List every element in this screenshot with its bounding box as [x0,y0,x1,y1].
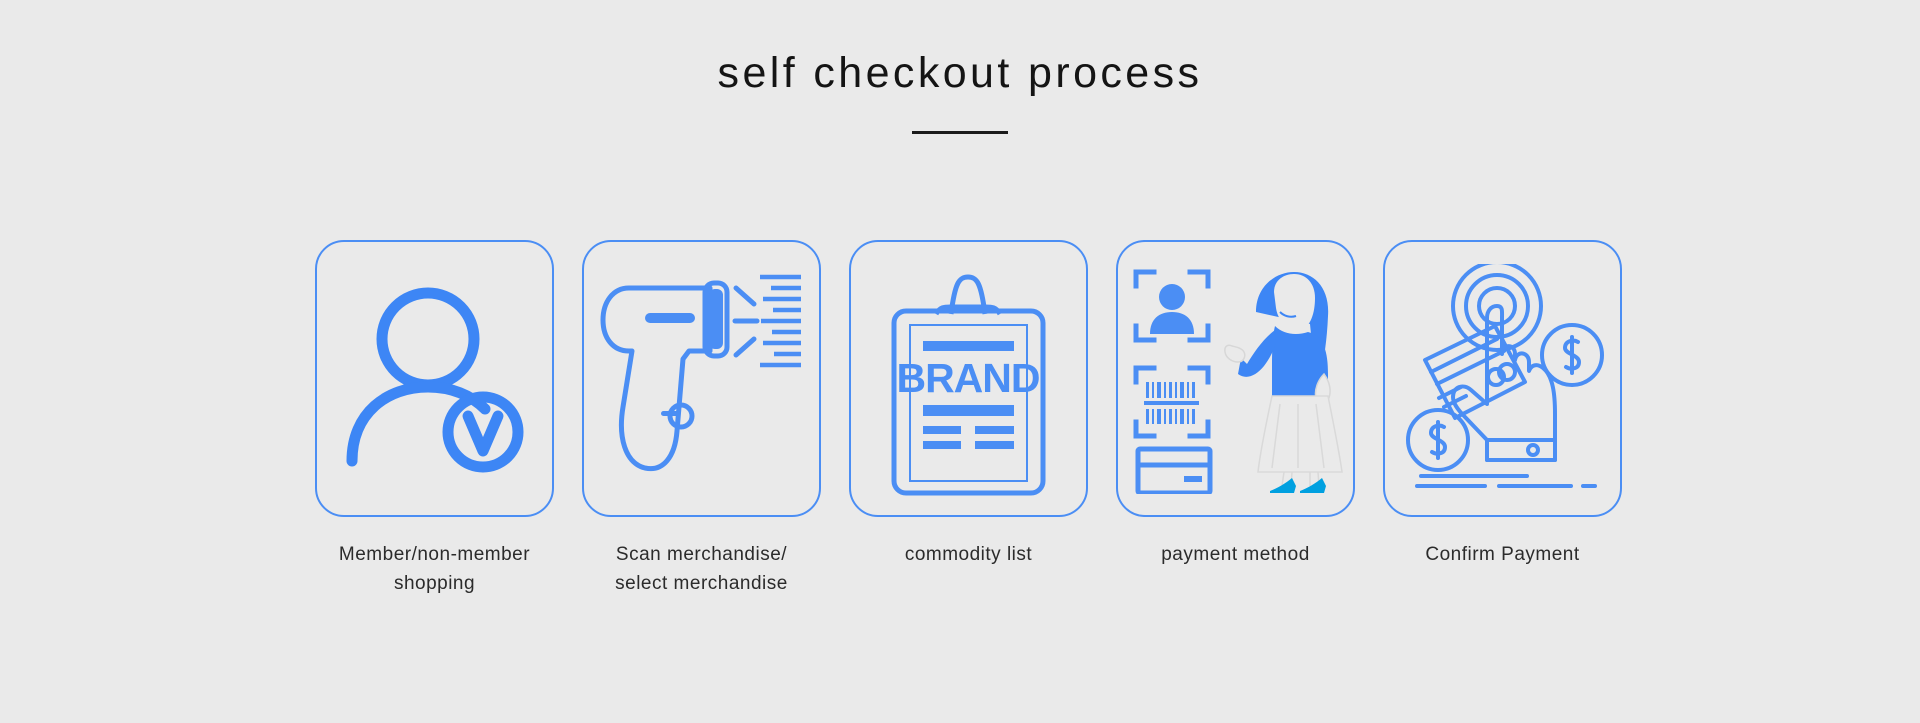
hand-tap-card-coins-icon [1395,264,1610,494]
payment-methods-shopper-icon [1128,264,1343,494]
steps-row: Member/non-member shopping [313,240,1624,599]
step-2-card[interactable] [582,240,821,517]
step-2-caption: Scan merchandise/ select merchandise [572,541,832,599]
step-4-card[interactable] [1116,240,1355,517]
title-divider [912,131,1008,134]
step-3-caption: commodity list [839,541,1099,570]
step-2-scan-merchandise[interactable]: Scan merchandise/ select merchandise [580,240,823,599]
step-1-caption: Member/non-member shopping [305,541,565,599]
step-1-member-shopping[interactable]: Member/non-member shopping [313,240,556,599]
page-title: self checkout process [0,0,1920,95]
step-3-commodity-list[interactable]: BRAND commodity list [847,240,1090,599]
shopper-figure [1225,272,1342,493]
barcode-scanner-gun-icon [597,271,807,486]
infographic-page: self checkout process Member/non-member … [0,0,1920,723]
step-5-caption: Confirm Payment [1373,541,1633,570]
credit-card-tilted [1425,326,1525,418]
coin-bottom-left [1408,410,1468,470]
shoe-right [1300,478,1326,493]
credit-card-icon [1138,449,1210,493]
step-1-card[interactable] [315,240,554,517]
step-5-card[interactable] [1383,240,1622,517]
title-divider-wrap [0,131,1920,134]
member-user-v-badge-icon [335,269,535,489]
barcode-scan-icon [1136,368,1208,436]
face-scan-icon [1136,272,1208,340]
header: self checkout process [0,0,1920,134]
step-4-payment-method[interactable]: payment method [1114,240,1357,599]
step-5-confirm-payment[interactable]: Confirm Payment [1381,240,1624,599]
step-4-caption: payment method [1106,541,1366,570]
clipboard-brand-list-icon: BRAND [881,259,1056,499]
step-3-card[interactable]: BRAND [849,240,1088,517]
clipboard-brand-text: BRAND [896,355,1039,401]
coin-top-right [1542,325,1602,385]
